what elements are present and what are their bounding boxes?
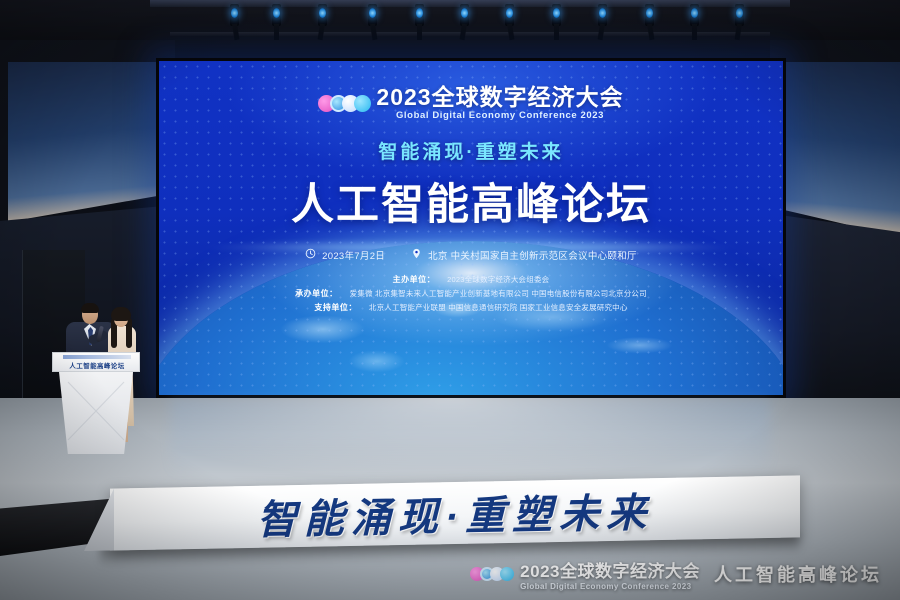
speaker-hair xyxy=(81,303,99,313)
stage-light-icon xyxy=(368,4,377,26)
stage-light-stalk xyxy=(554,24,559,40)
podium-sign-text: 人工智能高峰论坛 xyxy=(53,360,141,370)
led-screen: 2023全球数字经济大会 Global Digital Economy Conf… xyxy=(159,61,783,395)
stage-light-icon xyxy=(645,4,654,26)
stage-banner-text: 智能涌现·重塑未来 xyxy=(110,475,800,550)
event-meta: 2023年7月2日 北京 中关村国家自主创新示范区会议中心颐和厅 xyxy=(159,248,783,262)
footer-watermark: 2023全球数字经济大会 Global Digital Economy Conf… xyxy=(0,548,900,600)
organizer-row: 主办单位：2023全球数字经济大会组委会 xyxy=(159,273,783,287)
stage-light-icon xyxy=(505,4,514,26)
organizer-value: 2023全球数字经济大会组委会 xyxy=(447,275,549,284)
footer-conference-block: 2023全球数字经济大会 Global Digital Economy Conf… xyxy=(470,557,700,591)
conference-header: 2023全球数字经济大会 Global Digital Economy Conf… xyxy=(159,85,783,121)
conference-name-en: Global Digital Economy Conference 2023 xyxy=(376,111,623,121)
stage-light-stalk xyxy=(274,24,279,40)
footer-conference-cn: 2023全球数字经济大会 xyxy=(520,557,700,582)
organizer-label: 支持单位： xyxy=(314,303,357,312)
stage-light-stalk xyxy=(692,24,697,40)
host-hair xyxy=(111,307,131,321)
screen-main-title: 人工智能高峰论坛 xyxy=(159,170,783,232)
stage-light-icon xyxy=(272,4,281,26)
organizer-row: 承办单位：爱集微 北京集智未来人工智能产业创新基地有限公司 中国电信股份有限公司… xyxy=(159,287,783,301)
screen-subtitle: 智能涌现·重塑未来 xyxy=(159,137,783,164)
right-lower-panel xyxy=(780,215,900,405)
stage-light-icon xyxy=(552,4,561,26)
podium-sign-panel: 人工智能高峰论坛 xyxy=(52,352,140,372)
lighting-truss-secondary xyxy=(170,32,770,36)
clock-icon xyxy=(305,248,316,262)
organizer-label: 承办单位： xyxy=(295,289,338,298)
podium: 人工智能高峰论坛 xyxy=(52,352,140,457)
gdec-logo-strip xyxy=(63,355,131,359)
stage-light-icon xyxy=(230,4,239,26)
podium-cross-pattern xyxy=(66,380,126,442)
organizer-value: 北京人工智能产业联盟 中国信息通信研究院 国家工业信息安全发展研究中心 xyxy=(369,303,628,312)
stage-light-stalk xyxy=(417,24,422,40)
location-pin-icon xyxy=(411,248,422,262)
organizers-block: 主办单位：2023全球数字经济大会组委会 承办单位：爱集微 北京集智未来人工智能… xyxy=(159,273,783,315)
footer-forum-name: 人工智能高峰论坛 xyxy=(714,561,882,587)
conference-stage-photo: 2023全球数字经济大会 Global Digital Economy Conf… xyxy=(0,0,900,600)
stage-light-icon xyxy=(690,4,699,26)
screen-content: 2023全球数字经济大会 Global Digital Economy Conf… xyxy=(159,61,783,315)
footer-conference-names: 2023全球数字经济大会 Global Digital Economy Conf… xyxy=(520,557,700,591)
conference-name-block: 2023全球数字经济大会 Global Digital Economy Conf… xyxy=(376,85,623,121)
stage-light-icon xyxy=(415,4,424,26)
gdec-logo-icon xyxy=(470,567,510,581)
event-date: 2023年7月2日 xyxy=(322,248,385,262)
conference-name-cn: 2023全球数字经济大会 xyxy=(376,85,623,109)
gdec-logo-icon xyxy=(318,95,366,112)
organizer-value: 爱集微 北京集智未来人工智能产业创新基地有限公司 中国电信股份有限公司北京分公司 xyxy=(350,289,647,298)
footer-conference-en: Global Digital Economy Conference 2023 xyxy=(520,582,700,591)
event-venue: 北京 中关村国家自主创新示范区会议中心颐和厅 xyxy=(428,248,637,262)
organizer-label: 主办单位： xyxy=(393,275,436,284)
led-screen-frame: 2023全球数字经济大会 Global Digital Economy Conf… xyxy=(156,58,786,398)
right-glow-panel xyxy=(780,62,900,237)
organizer-row: 支持单位：北京人工智能产业联盟 中国信息通信研究院 国家工业信息安全发展研究中心 xyxy=(159,301,783,315)
